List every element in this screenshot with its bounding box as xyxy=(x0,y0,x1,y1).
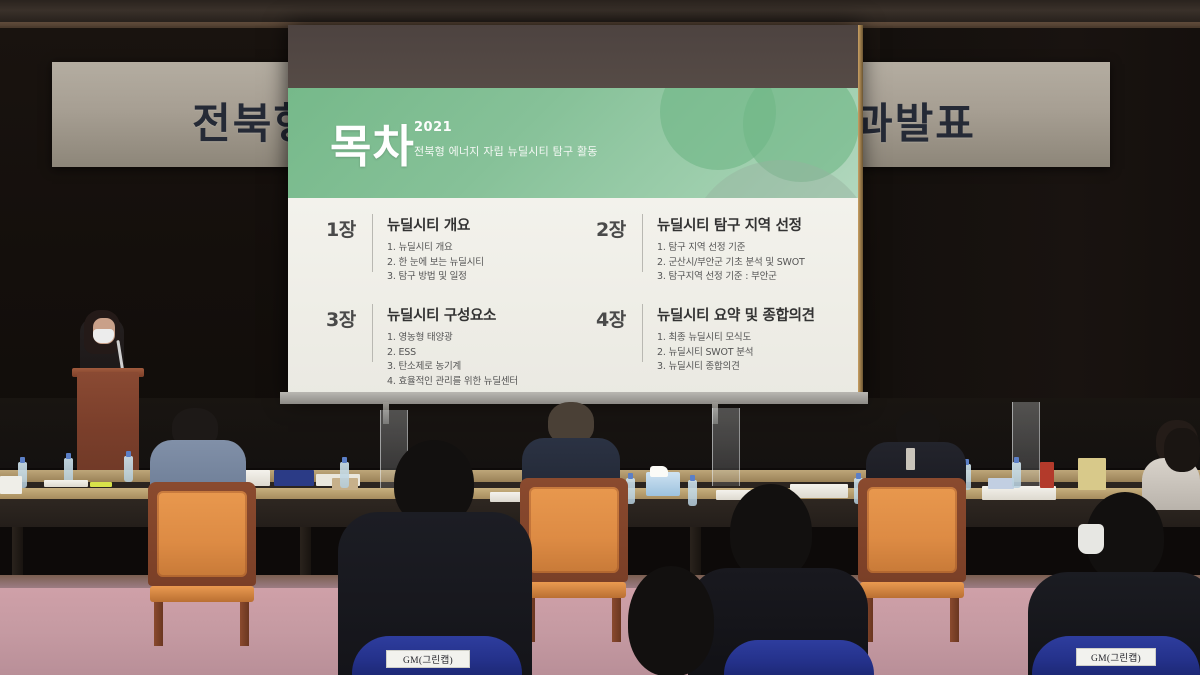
screenshot-scene: 전북형 과발표 목차 2021 전북형 에너지 자립 뉴딜시티 탐구 활동 1장 xyxy=(0,0,1200,675)
toc-sub-item: 4. 효율적인 관리를 위한 뉴딜센터 xyxy=(387,375,518,390)
wooden-chair[interactable] xyxy=(858,478,966,638)
wooden-chair[interactable] xyxy=(148,482,256,642)
toc-section: 2장 뉴딜시티 탐구 지역 선정 1. 탐구 지역 선정 기준 2. 군산시/부… xyxy=(596,214,805,285)
acrylic-divider xyxy=(712,408,740,486)
chair-seat xyxy=(860,582,964,598)
audience-chair-blue[interactable] xyxy=(724,640,874,675)
toc-divider xyxy=(372,214,373,272)
chair-leg xyxy=(240,602,249,646)
toc-section-heading: 뉴딜시티 탐구 지역 선정 xyxy=(657,214,805,235)
water-bottle xyxy=(340,462,349,488)
snack-box xyxy=(1078,458,1106,490)
audience-face-mask xyxy=(1078,524,1104,554)
toc-sub-item: 2. ESS xyxy=(387,346,518,361)
highlighter-pen xyxy=(90,482,112,487)
slide-top-band xyxy=(288,25,860,88)
banner-swoosh-blue-icon xyxy=(956,62,1110,167)
slide-body: 1장 뉴딜시티 개요 1. 뉴딜시티 개요 2. 한 눈에 보는 뉴딜시티 3.… xyxy=(288,198,860,399)
toc-sub-item: 3. 탐구지역 선정 기준 : 부안군 xyxy=(657,270,805,285)
document-stack xyxy=(44,480,88,487)
shirt-collar xyxy=(906,448,915,470)
water-bottle xyxy=(1012,462,1021,488)
toc-text-group: 뉴딜시티 구성요소 1. 영농형 태양광 2. ESS 3. 탄소제로 농기계 … xyxy=(387,304,518,390)
screen-frame-right xyxy=(858,25,863,399)
toc-text-group: 뉴딜시티 탐구 지역 선정 1. 탐구 지역 선정 기준 2. 군산시/부안군 … xyxy=(657,214,805,285)
chair-seat xyxy=(522,582,626,598)
toc-divider xyxy=(372,304,373,362)
toc-sub-item: 2. 한 눈에 보는 뉴딜시티 xyxy=(387,256,484,271)
chair-cushion xyxy=(529,487,619,573)
toc-text-group: 뉴딜시티 개요 1. 뉴딜시티 개요 2. 한 눈에 보는 뉴딜시티 3. 탐구… xyxy=(387,214,484,285)
audience-head xyxy=(628,566,714,675)
chair-cushion xyxy=(867,487,957,573)
toc-section-heading: 뉴딜시티 개요 xyxy=(387,214,484,235)
slide-title: 목차 xyxy=(330,124,415,169)
blue-booklet xyxy=(274,470,314,486)
slide-year: 2021 xyxy=(414,120,452,135)
booklet xyxy=(988,478,1014,489)
toc-sub-item: 1. 최종 뉴딜시티 모식도 xyxy=(657,331,815,346)
water-bottle xyxy=(688,480,697,506)
name-placard xyxy=(0,476,22,494)
toc-grid: 1장 뉴딜시티 개요 1. 뉴딜시티 개요 2. 한 눈에 보는 뉴딜시티 3.… xyxy=(288,198,860,399)
chair-label-tag: GM(그린캡) xyxy=(1076,648,1156,666)
toc-sub-item: 1. 뉴딜시티 개요 xyxy=(387,241,484,256)
chair-leg xyxy=(950,598,959,642)
wooden-chair[interactable] xyxy=(520,478,628,638)
toc-sub-item: 1. 탐구 지역 선정 기준 xyxy=(657,241,805,256)
chair-seat xyxy=(150,586,254,602)
toc-section-heading: 뉴딜시티 구성요소 xyxy=(387,304,518,325)
toc-sub-item: 2. 군산시/부안군 기초 분석 및 SWOT xyxy=(657,256,805,271)
slide-header: 목차 2021 전북형 에너지 자립 뉴딜시티 탐구 활동 xyxy=(288,88,860,198)
water-bottle xyxy=(124,456,133,482)
toc-divider xyxy=(642,214,643,272)
banner-right-text: 과발표 xyxy=(854,90,976,151)
toc-sub-item: 3. 뉴딜시티 종합의견 xyxy=(657,360,815,375)
toc-sub-item: 3. 탐구 방법 및 일정 xyxy=(387,270,484,285)
toc-chapter-number: 1장 xyxy=(326,214,370,242)
slide-subtitle: 전북형 에너지 자립 뉴딜시티 탐구 활동 xyxy=(414,143,598,159)
toc-divider xyxy=(642,304,643,362)
toc-text-group: 뉴딜시티 요약 및 종합의견 1. 최종 뉴딜시티 모식도 2. 뉴딜시티 SW… xyxy=(657,304,815,375)
chair-label-tag: GM(그린캡) xyxy=(386,650,470,668)
tissue-sheet xyxy=(650,466,668,477)
toc-section-heading: 뉴딜시티 요약 및 종합의견 xyxy=(657,304,815,325)
presenter-face-mask xyxy=(93,329,114,343)
audience-head xyxy=(1164,428,1200,472)
toc-chapter-number: 2장 xyxy=(596,214,640,242)
projection-screen: 목차 2021 전북형 에너지 자립 뉴딜시티 탐구 활동 1장 뉴딜시티 개요… xyxy=(288,25,860,399)
chair-cushion xyxy=(157,491,247,577)
stage-banner-left: 전북형 xyxy=(52,62,320,167)
chair-leg xyxy=(612,598,621,642)
toc-chapter-number: 3장 xyxy=(326,304,370,332)
toc-section: 3장 뉴딜시티 구성요소 1. 영농형 태양광 2. ESS 3. 탄소제로 농… xyxy=(326,304,518,390)
red-bottle xyxy=(1040,462,1054,488)
toc-chapter-number: 4장 xyxy=(596,304,640,332)
toc-sub-item: 2. 뉴딜시티 SWOT 분석 xyxy=(657,346,815,361)
toc-section: 1장 뉴딜시티 개요 1. 뉴딜시티 개요 2. 한 눈에 보는 뉴딜시티 3.… xyxy=(326,214,484,285)
chair-leg xyxy=(154,602,163,646)
toc-sub-item: 1. 영농형 태양광 xyxy=(387,331,518,346)
stage-banner-right: 과발표 xyxy=(848,62,1110,167)
toc-sub-item: 3. 탄소제로 농기계 xyxy=(387,360,518,375)
audience-head xyxy=(730,484,812,580)
banner-swoosh-blue-icon xyxy=(52,62,206,167)
toc-section: 4장 뉴딜시티 요약 및 종합의견 1. 최종 뉴딜시티 모식도 2. 뉴딜시티… xyxy=(596,304,815,375)
